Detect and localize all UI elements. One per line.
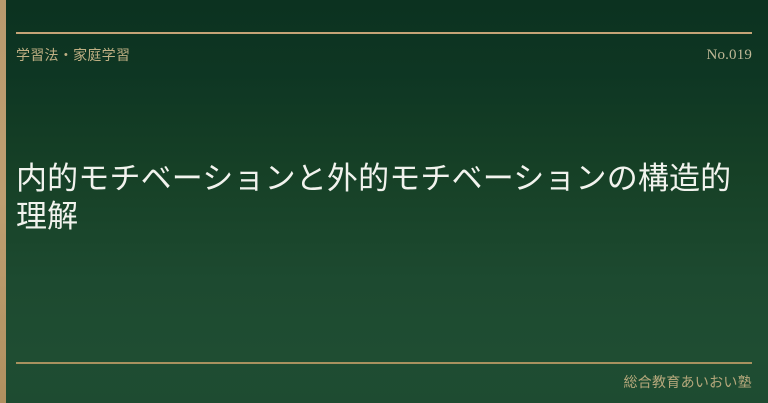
header-divider-rule — [16, 32, 752, 34]
category-label: 学習法・家庭学習 — [16, 45, 130, 65]
slide-footer: 総合教育あいおい塾 — [16, 370, 752, 394]
brand-label: 総合教育あいおい塾 — [623, 372, 752, 392]
left-accent-bar — [0, 0, 6, 403]
slide-header: 学習法・家庭学習 No.019 — [16, 42, 752, 68]
slide-canvas: 学習法・家庭学習 No.019 内的モチベーションと外的モチベーションの構造的理… — [0, 0, 768, 403]
issue-number-label: No.019 — [707, 47, 752, 64]
footer-divider-rule — [16, 362, 752, 364]
title-block: 内的モチベーションと外的モチベーションの構造的理解 — [16, 160, 742, 237]
page-title: 内的モチベーションと外的モチベーションの構造的理解 — [16, 160, 742, 237]
